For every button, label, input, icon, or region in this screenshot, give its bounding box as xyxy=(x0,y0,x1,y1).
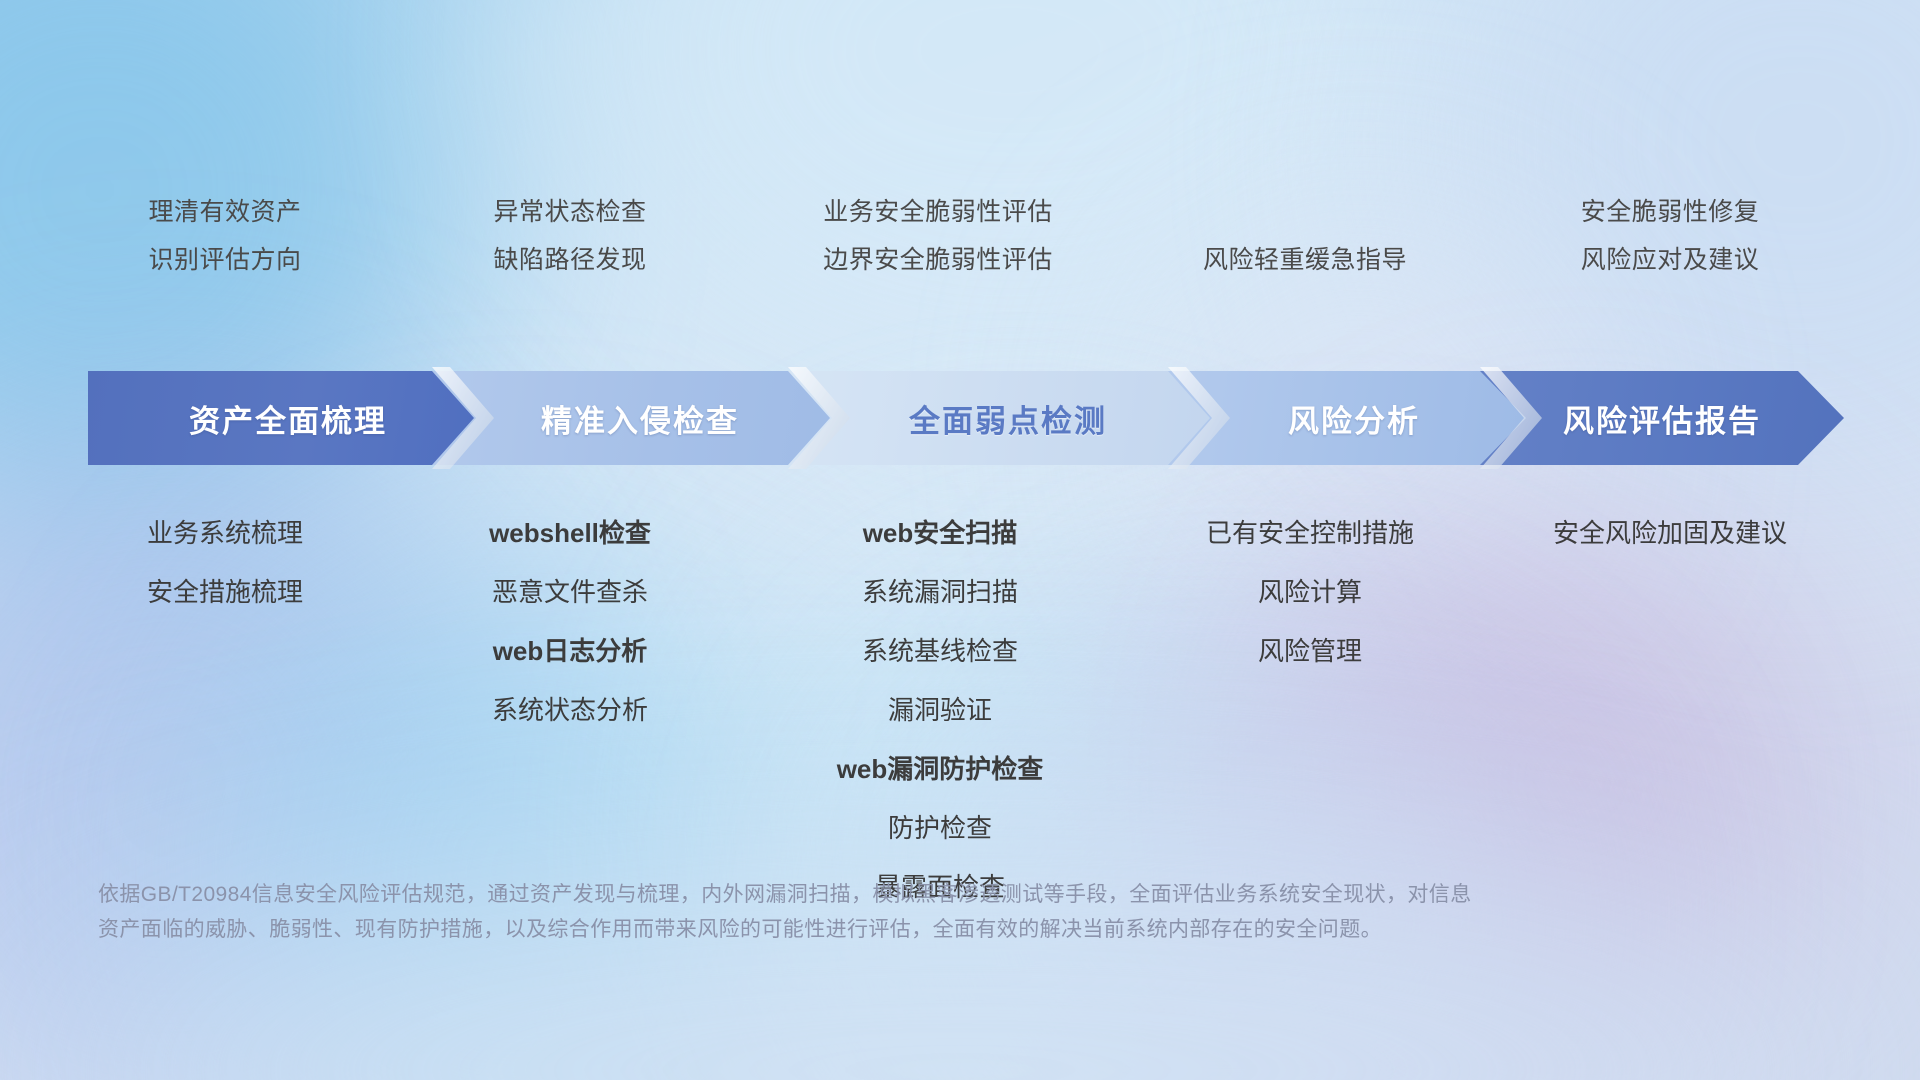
list-item: 风险管理 xyxy=(1130,631,1490,671)
list-item: web安全扫描 xyxy=(760,513,1120,553)
list-item: webshell检查 xyxy=(405,513,735,553)
stage-chevron-band: 资产全面梳理 精准入侵检查 全面弱点检测 风险分析 风险评估报告 xyxy=(88,371,1844,465)
caption-line: 识别评估方向 xyxy=(60,236,390,284)
top-caption-risk-analysis: 风险轻重缓急指导 xyxy=(1115,236,1495,284)
caption-line: 异常状态检查 xyxy=(405,188,735,236)
caption-line: 理清有效资产 xyxy=(60,188,390,236)
list-item: 安全风险加固及建议 xyxy=(1480,513,1860,553)
list-item: 风险计算 xyxy=(1130,572,1490,612)
footer-line: 资产面临的威胁、脆弱性、现有防护措施，以及综合作用而带来风险的可能性进行评估，全… xyxy=(98,912,1728,947)
footer-line: 依据GB/T20984信息安全风险评估规范，通过资产发现与梳理，内外网漏洞扫描，… xyxy=(98,877,1728,912)
stage-label: 资产全面梳理 xyxy=(189,396,387,441)
list-item: 业务系统梳理 xyxy=(60,513,390,553)
items-intrusion: webshell检查 恶意文件查杀 web日志分析 系统状态分析 xyxy=(405,513,735,749)
top-caption-asset: 理清有效资产 识别评估方向 xyxy=(60,188,390,284)
items-weakness: web安全扫描 系统漏洞扫描 系统基线检查 漏洞验证 web漏洞防护检查 防护检… xyxy=(760,513,1120,926)
list-item: web日志分析 xyxy=(405,631,735,671)
stage-3-weakness[interactable]: 全面弱点检测 xyxy=(788,371,1228,465)
stage-label: 风险分析 xyxy=(1288,396,1420,441)
caption-line: 边界安全脆弱性评估 xyxy=(748,236,1128,284)
list-item: 系统状态分析 xyxy=(405,690,735,730)
caption-line: 业务安全脆弱性评估 xyxy=(748,188,1128,236)
stage-2-intrusion[interactable]: 精准入侵检查 xyxy=(432,371,848,465)
footer-description: 依据GB/T20984信息安全风险评估规范，通过资产发现与梳理，内外网漏洞扫描，… xyxy=(98,877,1728,947)
list-item: 恶意文件查杀 xyxy=(405,572,735,612)
stage-1-asset[interactable]: 资产全面梳理 xyxy=(88,371,488,465)
top-caption-weakness: 业务安全脆弱性评估 边界安全脆弱性评估 xyxy=(748,188,1128,284)
caption-line: 风险应对及建议 xyxy=(1480,236,1860,284)
top-caption-intrusion: 异常状态检查 缺陷路径发现 xyxy=(405,188,735,284)
stage-label: 全面弱点检测 xyxy=(909,396,1107,441)
items-report: 安全风险加固及建议 xyxy=(1480,513,1860,572)
list-item: 安全措施梳理 xyxy=(60,572,390,612)
items-risk-analysis: 已有安全控制措施 风险计算 风险管理 xyxy=(1130,513,1490,690)
list-item: 防护检查 xyxy=(760,808,1120,848)
caption-line: 风险轻重缓急指导 xyxy=(1115,236,1495,284)
top-caption-report: 安全脆弱性修复 风险应对及建议 xyxy=(1480,188,1860,284)
stage-label: 精准入侵检查 xyxy=(541,396,739,441)
list-item: 漏洞验证 xyxy=(760,690,1120,730)
list-item: 系统漏洞扫描 xyxy=(760,572,1120,612)
items-asset: 业务系统梳理 安全措施梳理 xyxy=(60,513,390,631)
list-item: web漏洞防护检查 xyxy=(760,749,1120,789)
list-item: 系统基线检查 xyxy=(760,631,1120,671)
process-diagram: 理清有效资产 识别评估方向 异常状态检查 缺陷路径发现 业务安全脆弱性评估 边界… xyxy=(0,0,1920,1080)
stage-label: 风险评估报告 xyxy=(1563,396,1761,441)
list-item: 已有安全控制措施 xyxy=(1130,513,1490,553)
caption-line: 安全脆弱性修复 xyxy=(1480,188,1860,236)
caption-line: 缺陷路径发现 xyxy=(405,236,735,284)
